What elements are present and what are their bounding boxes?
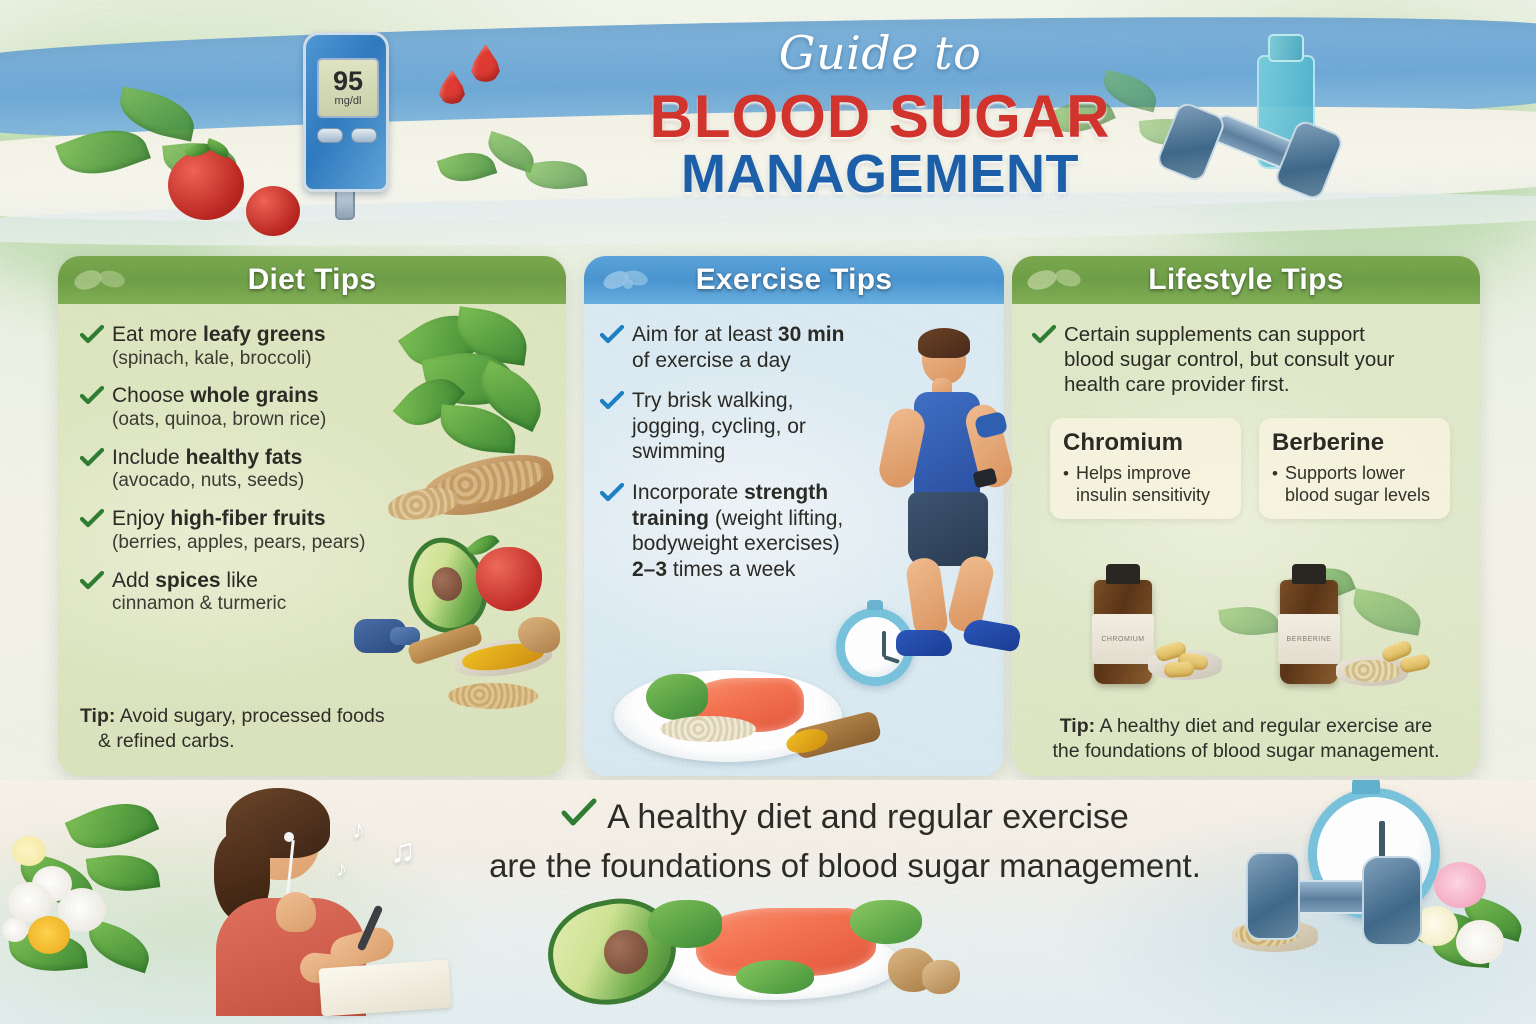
list-item-sub: (oats, quinoa, brown rice): [112, 409, 326, 430]
title-line-2: MANAGEMENT: [500, 147, 1260, 202]
diet-tip-label: Tip:: [80, 705, 115, 727]
list-item: Include healthy fats (avocado, nuts, see…: [80, 445, 544, 493]
water-bottle-cap: [1268, 34, 1304, 62]
check-icon: [80, 448, 104, 468]
panel-lifestyle-header: Lifestyle Tips: [1012, 256, 1480, 304]
footer-band: ♪ ♫ ♪: [0, 780, 1536, 1024]
exercise-item-2-l3: swimming: [632, 440, 725, 463]
supplement-bullet-l2: insulin sensitivity: [1076, 485, 1210, 505]
list-item-text: Aim for at least 30 minof exercise a day: [632, 322, 844, 373]
list-item-sub: (spinach, kale, broccoli): [112, 348, 312, 369]
list-item-text: Incorporate strengthtraining (weight lif…: [632, 480, 843, 582]
list-item-main: Add spices like: [112, 569, 258, 592]
check-icon: [600, 391, 624, 411]
panel-exercise-title: Exercise Tips: [696, 263, 893, 297]
leaf-icon: [1026, 264, 1088, 296]
supplement-bullet: • Supports lower blood sugar levels: [1272, 463, 1437, 506]
check-icon: [600, 325, 624, 345]
footer-statement: A healthy diet and regular exercise are …: [430, 796, 1260, 887]
check-icon: [80, 509, 104, 529]
list-item: Choose whole grains (oats, quinoa, brown…: [80, 383, 544, 431]
diet-tip-line-1: Avoid sugary, processed foods: [120, 705, 385, 727]
list-item-text: Try brisk walking, jogging, cycling, or …: [632, 388, 806, 465]
panel-lifestyle-title: Lifestyle Tips: [1148, 263, 1343, 297]
supplement-card-berberine[interactable]: Berberine • Supports lower blood sugar l…: [1259, 418, 1450, 519]
glucose-meter-icon: 95 mg/dl: [303, 32, 389, 192]
list-item-text: Certain supplements can support blood su…: [1064, 322, 1394, 397]
supplement-bullet-l1: Helps improve: [1076, 463, 1191, 483]
supplement-name: Berberine: [1272, 429, 1437, 457]
flower-cluster-left: [0, 800, 210, 1000]
supplement-name: Chromium: [1063, 429, 1228, 457]
clock-crown-footer: [1352, 780, 1380, 794]
lifestyle-intro-l3: health care provider first.: [1064, 373, 1290, 396]
supplement-illustration: CHROMIUM BERBERINE: [1052, 546, 1472, 736]
title-line-1: BLOOD SUGAR: [500, 86, 1260, 147]
diet-tip: Tip: Avoid sugary, processed foods & ref…: [80, 704, 385, 755]
dumbbell-icon-footer: [1240, 842, 1440, 952]
diet-tip-line-2: & refined carbs.: [98, 729, 235, 754]
woman-journaling-illustration: [180, 792, 430, 1022]
panel-diet-title: Diet Tips: [248, 263, 377, 297]
bullet-icon: •: [1272, 463, 1278, 506]
meter-unit: mg/dl: [335, 95, 362, 107]
supplement-bullet-l2: blood sugar levels: [1285, 485, 1430, 505]
lifestyle-intro-l2: blood sugar control, but consult your: [1064, 348, 1394, 371]
supplement-card-chromium[interactable]: Chromium • Helps improve insulin sensiti…: [1050, 418, 1241, 519]
check-icon: [80, 386, 104, 406]
list-item-main: Enjoy high-fiber fruits: [112, 507, 326, 530]
leaf-icon: [598, 264, 660, 296]
panel-diet-header: Diet Tips: [58, 256, 566, 304]
check-icon: [600, 483, 624, 503]
diet-tips-list: Eat more leafy greens (spinach, kale, br…: [58, 304, 566, 616]
panel-exercise-header: Exercise Tips: [584, 256, 1004, 304]
lifestyle-intro-l1: Certain supplements can support: [1064, 323, 1365, 346]
exercise-item-2-l1: Try brisk walking,: [632, 389, 793, 412]
lifestyle-tip-line-2: the foundations of blood sugar managemen…: [1052, 740, 1439, 762]
leaf-icon: [72, 264, 134, 296]
list-item: Add spices like cinnamon & turmeric: [80, 568, 544, 616]
exercise-item-2-l2: jogging, cycling, or: [632, 415, 806, 438]
list-item: Aim for at least 30 minof exercise a day: [600, 322, 900, 373]
list-item: Eat more leafy greens (spinach, kale, br…: [80, 322, 544, 370]
supplement-bullet: • Helps improve insulin sensitivity: [1063, 463, 1228, 506]
lifestyle-tip-label: Tip:: [1060, 715, 1095, 737]
list-item-main: Choose whole grains: [112, 384, 319, 407]
lifestyle-tip-line-1: A healthy diet and regular exercise are: [1099, 715, 1432, 737]
check-icon: [80, 325, 104, 345]
supplement-bottle-icon: CHROMIUM: [1094, 580, 1152, 684]
list-item: Enjoy high-fiber fruits (berries, apples…: [80, 506, 544, 554]
poster-title: Guide to BLOOD SUGAR MANAGEMENT: [500, 24, 1260, 202]
panel-diet-tips[interactable]: Diet Tips: [58, 256, 566, 776]
list-item-sub: cinnamon & turmeric: [112, 593, 286, 614]
supplement-cards: Chromium • Helps improve insulin sensiti…: [1050, 418, 1450, 519]
list-item-sub: (berries, apples, pears, pears): [112, 532, 365, 553]
exercise-tips-list: Aim for at least 30 minof exercise a day…: [584, 304, 916, 582]
infographic-poster: 95 mg/dl Guide to BLOOD SUGAR MANAGEMENT: [0, 0, 1536, 1024]
lifestyle-intro: Certain supplements can support blood su…: [1012, 304, 1480, 397]
meter-value: 95: [333, 69, 363, 93]
list-item: Try brisk walking, jogging, cycling, or …: [600, 388, 900, 465]
title-eyebrow: Guide to: [500, 30, 1260, 76]
list-item: Incorporate strengthtraining (weight lif…: [600, 480, 900, 582]
runner-illustration: [880, 330, 1070, 670]
check-icon: [80, 571, 104, 591]
supplement-bullet-l1: Supports lower: [1285, 463, 1405, 483]
tomato-icon-small: [246, 186, 300, 236]
footer-line-2: are the foundations of blood sugar manag…: [430, 845, 1260, 888]
lifestyle-tip: Tip: A healthy diet and regular exercise…: [1012, 714, 1480, 765]
list-item-sub: (avocado, nuts, seeds): [112, 470, 304, 491]
footer-food-illustration: [520, 878, 960, 1024]
supplement-bottle-icon: BERBERINE: [1280, 580, 1338, 684]
footer-line-1: A healthy diet and regular exercise: [607, 796, 1129, 839]
tomato-icon-large: [168, 150, 244, 220]
check-icon: [561, 796, 597, 839]
list-item: Certain supplements can support blood su…: [1032, 322, 1460, 397]
list-item-main: Eat more leafy greens: [112, 323, 326, 346]
list-item-main: Include healthy fats: [112, 446, 302, 469]
